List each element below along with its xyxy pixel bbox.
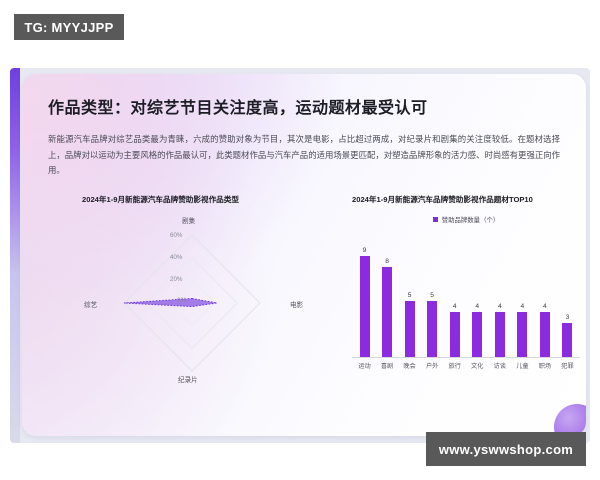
bar-column: 9 — [356, 230, 373, 357]
bar — [540, 312, 550, 357]
radar-tick-20: 20% — [170, 276, 182, 283]
bar — [382, 267, 392, 357]
bar-category-label: 职场 — [536, 361, 553, 370]
radar-chart: 剧集 电影 纪录片 综艺 0% 20% 40% 60% — [82, 211, 332, 379]
radar-axis-label-dianying: 电影 — [290, 299, 303, 309]
bar-category-label: 犯罪 — [559, 361, 576, 370]
bar-column: 4 — [469, 230, 486, 357]
bar-chart-legend: 赞助品牌数量（个） — [352, 215, 580, 224]
bar — [562, 323, 572, 357]
bar-chart-plot: 9855444443 — [352, 230, 580, 358]
bar — [517, 312, 527, 357]
bar-category-label: 户外 — [424, 361, 441, 370]
site-watermark-text: www.yswwshop.com — [439, 442, 573, 457]
bar-category-label: 晚会 — [401, 361, 418, 370]
bar-column: 4 — [536, 230, 553, 357]
bar — [360, 256, 370, 357]
bar-value-label: 8 — [385, 258, 389, 265]
radar-axis-label-zongyi: 综艺 — [84, 299, 97, 309]
bar-value-label: 9 — [363, 247, 367, 254]
bar-column: 8 — [379, 230, 396, 357]
radar-chart-svg — [82, 211, 332, 379]
slide-card: 作品类型：对综艺节目关注度高，运动题材最受认可 新能源汽车品牌对综艺品类最为青睐… — [22, 74, 586, 436]
bar-value-label: 3 — [566, 314, 570, 321]
bar-value-label: 4 — [520, 303, 524, 310]
legend-label: 赞助品牌数量（个） — [442, 215, 500, 224]
bar-column: 4 — [514, 230, 531, 357]
bar — [427, 301, 437, 357]
bar-column: 5 — [424, 230, 441, 357]
slide-accent-bar — [10, 68, 20, 443]
tg-watermark-text: TG: MYYJJPP — [24, 20, 113, 35]
tg-watermark-badge: TG: MYYJJPP — [14, 14, 124, 40]
bar — [450, 312, 460, 357]
radar-chart-panel: 2024年1-9月新能源汽车品牌赞助影视作品类型 剧集 电影 纪录片 综艺 0%… — [82, 194, 332, 379]
summary-paragraph: 新能源汽车品牌对综艺品类最为青睐，六成的赞助对象为节目，其次是电影，占比超过两成… — [48, 132, 560, 179]
radar-series-polygon — [124, 299, 217, 307]
site-watermark-badge: www.yswwshop.com — [426, 432, 586, 466]
radar-chart-title: 2024年1-9月新能源汽车品牌赞助影视作品类型 — [82, 194, 332, 205]
radar-axis-label-jilupian: 纪录片 — [178, 374, 198, 384]
bar-category-label: 运动 — [356, 361, 373, 370]
radar-tick-0: 0% — [177, 297, 186, 304]
bar-value-label: 4 — [475, 303, 479, 310]
radar-axis-label-juji: 剧集 — [182, 215, 195, 225]
bar-category-label: 文化 — [469, 361, 486, 370]
bar — [405, 301, 415, 357]
page-title: 作品类型：对综艺节目关注度高，运动题材最受认可 — [48, 94, 428, 118]
bar-value-label: 4 — [543, 303, 547, 310]
bar-value-label: 5 — [408, 292, 412, 299]
bar-category-label: 儿童 — [514, 361, 531, 370]
bar-column: 4 — [446, 230, 463, 357]
bar-category-label: 旅行 — [446, 361, 463, 370]
legend-swatch-icon — [433, 217, 438, 222]
bar-chart-panel: 2024年1-9月新能源汽车品牌赞助影视作品题材TOP10 赞助品牌数量（个） … — [352, 194, 580, 379]
bar-column: 4 — [491, 230, 508, 357]
bar-chart-category-axis: 运动喜剧晚会户外旅行文化访谈儿童职场犯罪 — [352, 361, 580, 370]
bar-column: 3 — [559, 230, 576, 357]
radar-tick-60: 60% — [170, 232, 182, 239]
radar-tick-40: 40% — [170, 254, 182, 261]
bar-chart-title: 2024年1-9月新能源汽车品牌赞助影视作品题材TOP10 — [352, 194, 580, 205]
bar-value-label: 4 — [498, 303, 502, 310]
bar-category-label: 访谈 — [491, 361, 508, 370]
bar — [472, 312, 482, 357]
bar-value-label: 4 — [453, 303, 457, 310]
bar-column: 5 — [401, 230, 418, 357]
bar — [495, 312, 505, 357]
slide-frame: 作品类型：对综艺节目关注度高，运动题材最受认可 新能源汽车品牌对综艺品类最为青睐… — [10, 68, 590, 443]
bar-value-label: 5 — [430, 292, 434, 299]
bar-category-label: 喜剧 — [379, 361, 396, 370]
